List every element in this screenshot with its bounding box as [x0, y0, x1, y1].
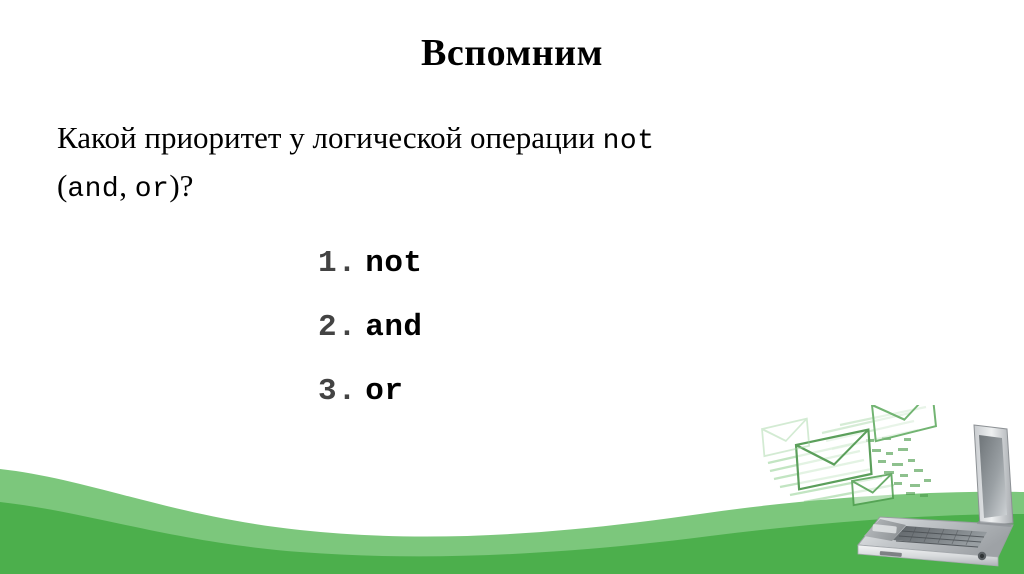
- answer-label-3: or: [365, 360, 403, 424]
- answer-number-1: 1.: [318, 232, 357, 296]
- answer-option-3[interactable]: 3. or: [318, 360, 423, 424]
- envelope-icon: [872, 405, 936, 441]
- laptop-device: [858, 425, 1013, 566]
- laptop-trackpad: [872, 524, 897, 533]
- laptop-side-port: [978, 552, 986, 560]
- answer-label-2: and: [365, 296, 422, 360]
- question-operator-not: not: [603, 126, 655, 157]
- email-stream-group: [762, 405, 936, 505]
- laptop-hinge: [977, 521, 1012, 527]
- question-open-paren: (: [57, 168, 67, 203]
- question-part-1: Какой приоритет у логической операции: [57, 120, 603, 155]
- answer-option-2[interactable]: 2. and: [318, 296, 423, 360]
- laptop-screen-face: [979, 435, 1007, 518]
- laptop-screen-lid: [974, 425, 1013, 527]
- question-operator-and: and: [67, 174, 119, 205]
- question-text: Какой приоритет у логической операции no…: [57, 116, 957, 212]
- answer-number-2: 2.: [318, 296, 357, 360]
- laptop-front-slot: [880, 551, 902, 557]
- envelope-icon: [762, 419, 809, 457]
- laptop-side-port-inner: [980, 554, 984, 558]
- question-operator-or: or: [135, 174, 170, 205]
- wave-light-shape: [0, 469, 1024, 574]
- wave-dark-shape: [0, 502, 1024, 574]
- pixel-trail: [866, 437, 931, 497]
- data-streak-lines: [768, 443, 894, 502]
- page-title: Вспомним: [0, 30, 1024, 76]
- envelope-icon: [852, 474, 893, 505]
- data-streak-lines-upper: [822, 407, 926, 449]
- answer-option-1[interactable]: 1. not: [318, 232, 423, 296]
- green-wave-decoration: [0, 434, 1024, 574]
- laptop-base-side: [858, 545, 998, 566]
- question-close-paren: )?: [169, 168, 193, 203]
- answer-label-1: not: [365, 232, 422, 296]
- answer-option-list: 1. not 2. and 3. or: [318, 232, 423, 424]
- laptop-with-flying-envelopes-illustration: [760, 405, 1024, 574]
- laptop-base-deck: [858, 517, 1013, 557]
- slide-canvas: Вспомним Какой приоритет у логической оп…: [0, 0, 1024, 574]
- keyboard-key-columns: [910, 527, 972, 545]
- laptop-palm-rest: [864, 519, 906, 541]
- answer-number-3: 3.: [318, 360, 357, 424]
- envelope-icon: [796, 430, 871, 490]
- laptop-keyboard: [893, 526, 987, 548]
- question-comma: ,: [119, 168, 135, 203]
- keyboard-key-rows: [896, 531, 984, 547]
